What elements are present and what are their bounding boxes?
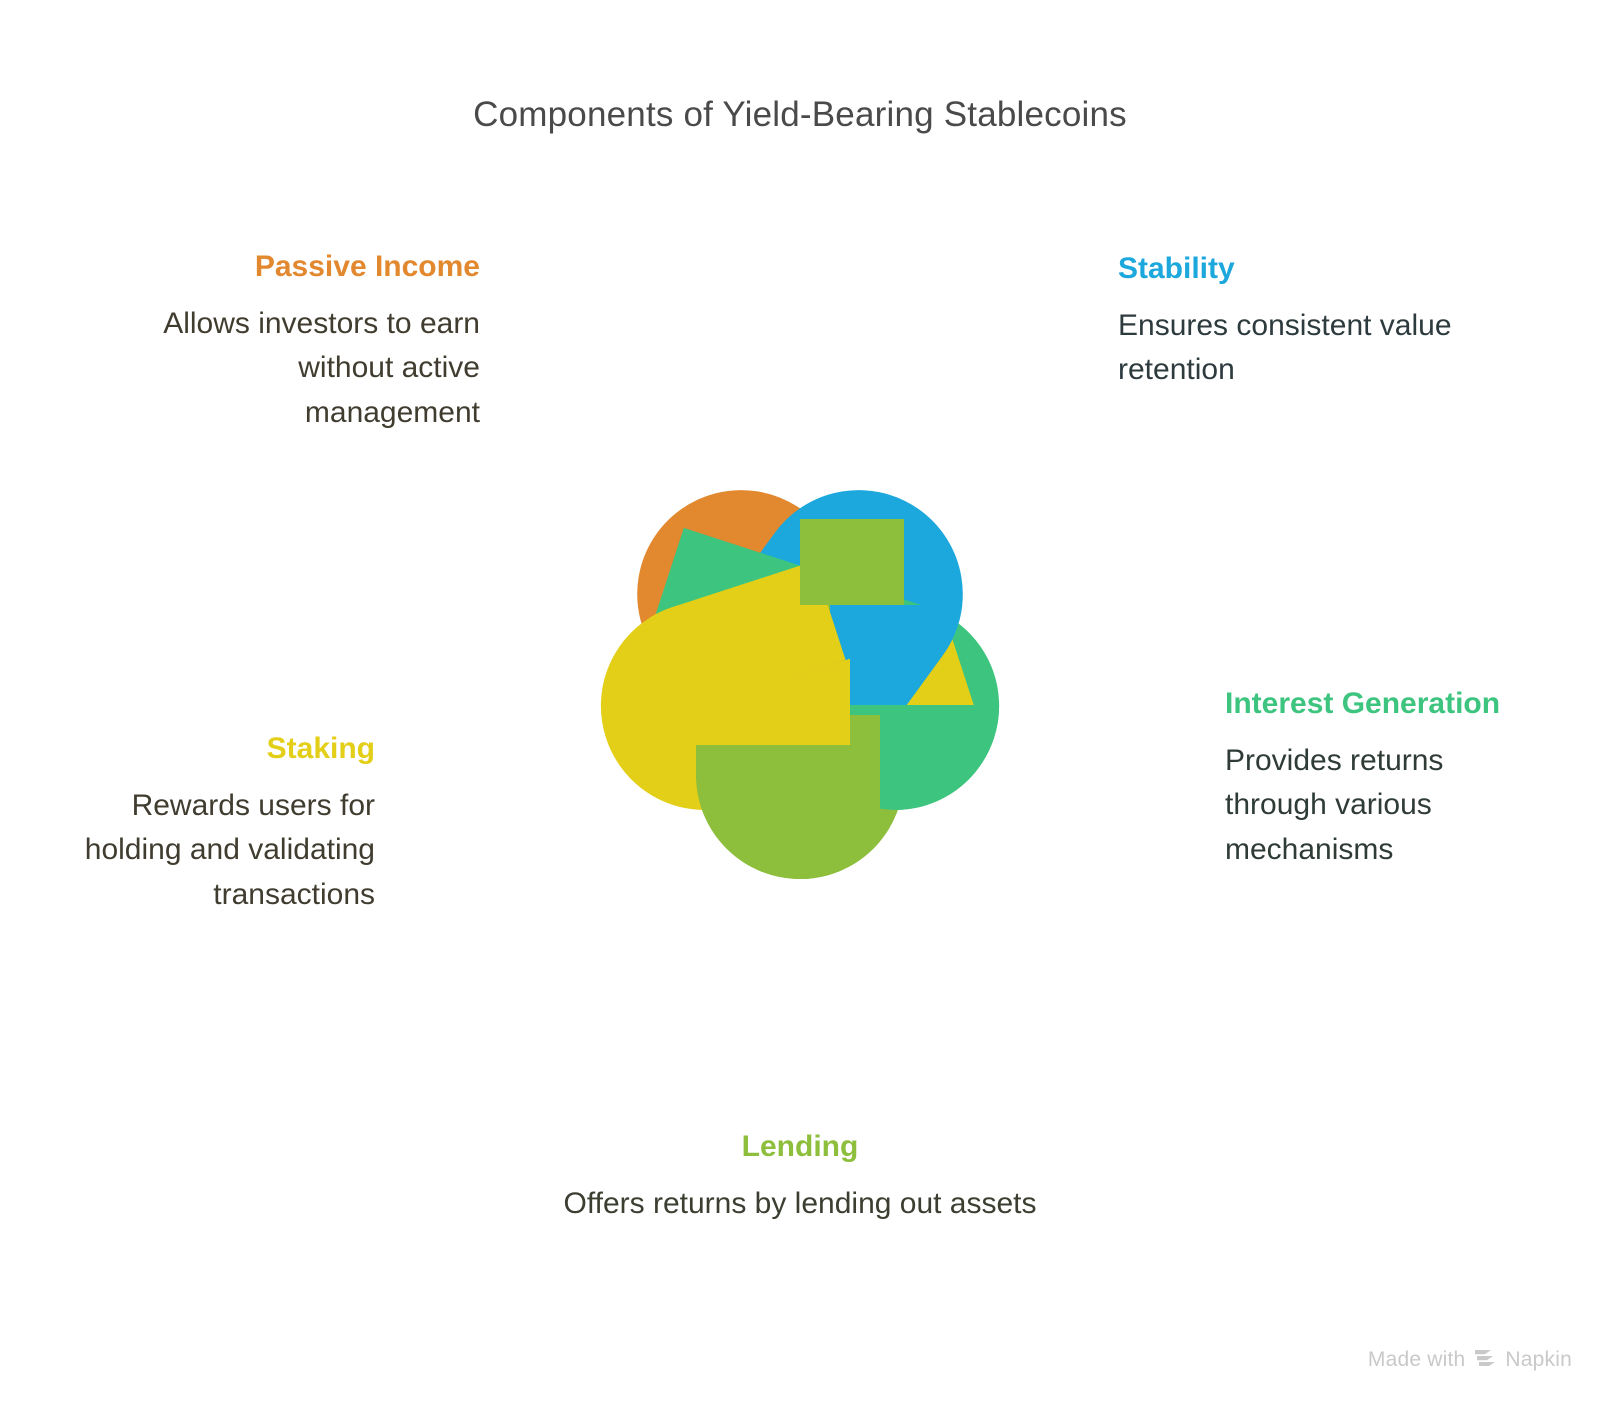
- component-heading-interest-generation: Interest Generation: [1225, 685, 1545, 723]
- component-label-stability: Stability Ensures consistent value reten…: [1118, 250, 1478, 393]
- component-description-stability: Ensures consistent value retention: [1118, 304, 1478, 393]
- watermark-prefix: Made with: [1368, 1348, 1466, 1372]
- component-label-passive-income: Passive Income Allows investors to earn …: [120, 248, 480, 435]
- page-title: Components of Yield-Bearing Stablecoins: [0, 95, 1600, 135]
- component-label-staking: Staking Rewards users for holding and va…: [45, 730, 375, 917]
- component-label-lending: Lending Offers returns by lending out as…: [540, 1128, 1060, 1226]
- watermark-brand: Napkin: [1505, 1348, 1572, 1372]
- component-heading-passive-income: Passive Income: [120, 248, 480, 286]
- infographic-page: Components of Yield-Bearing Stablecoins: [0, 0, 1600, 1409]
- component-label-interest-generation: Interest Generation Provides returns thr…: [1225, 685, 1545, 872]
- napkin-watermark: Made with Napkin: [1368, 1347, 1572, 1373]
- component-heading-stability: Stability: [1118, 250, 1478, 288]
- knot-diagram: [400, 275, 1200, 1075]
- component-description-staking: Rewards users for holding and validating…: [45, 784, 375, 917]
- component-description-lending: Offers returns by lending out assets: [540, 1182, 1060, 1226]
- component-heading-lending: Lending: [540, 1128, 1060, 1166]
- component-description-passive-income: Allows investors to earn without active …: [120, 302, 480, 435]
- component-heading-staking: Staking: [45, 730, 375, 768]
- component-description-interest-generation: Provides returns through various mechani…: [1225, 739, 1545, 872]
- napkin-logo-icon: [1474, 1347, 1496, 1373]
